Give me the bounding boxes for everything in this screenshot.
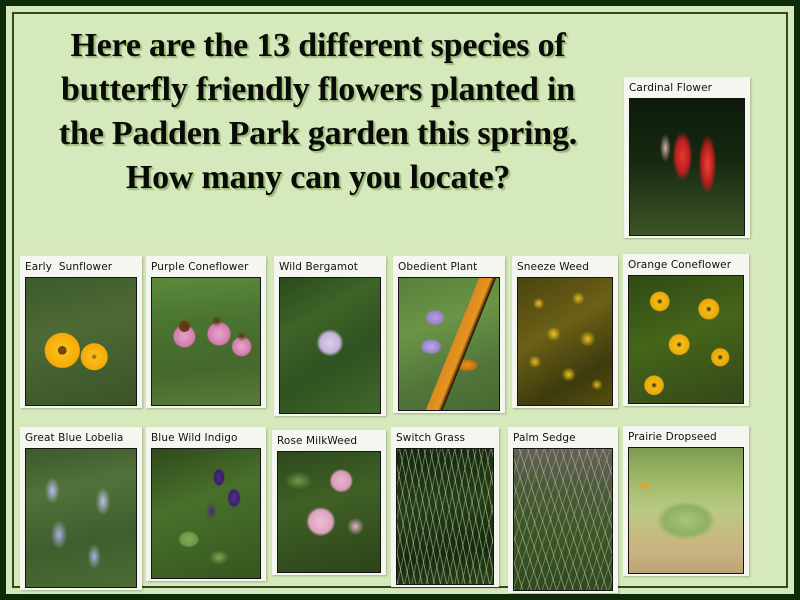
plant-card-blue-wild-indigo[interactable]: Blue Wild Indigo bbox=[146, 427, 266, 581]
poster-headline: Here are the 13 different species of but… bbox=[20, 24, 616, 200]
plant-card-early-sunflower[interactable]: Early Sunflower bbox=[20, 256, 142, 408]
great-blue-lobelia-photo bbox=[25, 448, 137, 588]
switch-grass-photo bbox=[396, 448, 494, 585]
plant-card-label: Early Sunflower bbox=[25, 260, 137, 274]
plant-card-sneeze-weed[interactable]: Sneeze Weed bbox=[512, 256, 618, 408]
plant-card-label: Sneeze Weed bbox=[517, 260, 613, 274]
plant-card-label: Purple Coneflower bbox=[151, 260, 261, 274]
plant-card-label: Palm Sedge bbox=[513, 431, 613, 445]
plant-card-label: Switch Grass bbox=[396, 431, 494, 445]
obedient-plant-photo bbox=[398, 277, 500, 411]
plant-card-switch-grass[interactable]: Switch Grass bbox=[391, 427, 499, 587]
wild-bergamot-photo bbox=[279, 277, 381, 414]
palm-sedge-photo bbox=[513, 448, 613, 591]
orange-coneflower-photo bbox=[628, 275, 744, 404]
blue-wild-indigo-photo bbox=[151, 448, 261, 579]
plant-card-palm-sedge[interactable]: Palm Sedge bbox=[508, 427, 618, 593]
plant-card-orange-coneflower[interactable]: Orange Coneflower bbox=[623, 254, 749, 406]
plant-card-prairie-dropseed[interactable]: Prairie Dropseed bbox=[623, 426, 749, 576]
plant-card-cardinal-flower[interactable]: Cardinal Flower bbox=[624, 77, 750, 238]
cardinal-flower-photo bbox=[629, 98, 745, 236]
rose-milkweed-photo bbox=[277, 451, 381, 573]
plant-card-rose-milkweed[interactable]: Rose MilkWeed bbox=[272, 430, 386, 575]
plant-card-label: Blue Wild Indigo bbox=[151, 431, 261, 445]
prairie-dropseed-photo bbox=[628, 447, 744, 574]
early-sunflower-photo bbox=[25, 277, 137, 406]
sneeze-weed-photo bbox=[517, 277, 613, 406]
butterfly-garden-poster: Here are the 13 different species of but… bbox=[0, 0, 800, 600]
plant-card-label: Obedient Plant bbox=[398, 260, 500, 274]
plant-card-label: Rose MilkWeed bbox=[277, 434, 381, 448]
plant-card-label: Cardinal Flower bbox=[629, 81, 745, 95]
purple-coneflower-photo bbox=[151, 277, 261, 406]
plant-card-label: Great Blue Lobelia bbox=[25, 431, 137, 445]
plant-card-wild-bergamot[interactable]: Wild Bergamot bbox=[274, 256, 386, 416]
plant-card-label: Wild Bergamot bbox=[279, 260, 381, 274]
plant-card-label: Orange Coneflower bbox=[628, 258, 744, 272]
plant-card-label: Prairie Dropseed bbox=[628, 430, 744, 444]
plant-card-purple-coneflower[interactable]: Purple Coneflower bbox=[146, 256, 266, 408]
plant-card-obedient-plant[interactable]: Obedient Plant bbox=[393, 256, 505, 413]
plant-card-great-blue-lobelia[interactable]: Great Blue Lobelia bbox=[20, 427, 142, 590]
